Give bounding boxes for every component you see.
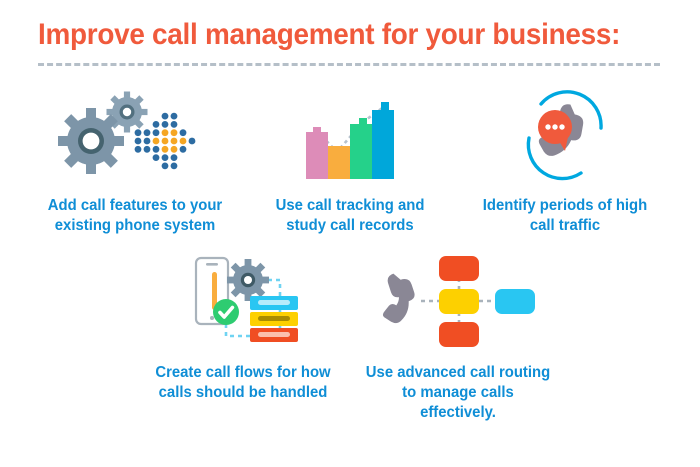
icon-container bbox=[55, 82, 215, 187]
feature-row-bottom: Create call flows for how calls should b… bbox=[0, 249, 700, 424]
page-title: Improve call management for your busines… bbox=[38, 18, 622, 52]
feature-item-call-routing: Use advanced call routing to manage call… bbox=[350, 249, 565, 424]
bar-chart-trend-icon bbox=[290, 84, 410, 184]
feature-caption: Use advanced call routing to manage call… bbox=[363, 363, 551, 424]
feature-item-high-call-traffic: Identify periods of high call traffic bbox=[458, 82, 673, 237]
header-divider bbox=[38, 63, 660, 66]
feature-caption: Identify periods of high call traffic bbox=[476, 196, 655, 237]
feature-item-add-call-features: Add call features to your existing phone… bbox=[28, 82, 243, 237]
feature-caption: Use call tracking and study call records bbox=[261, 196, 440, 237]
feature-item-call-tracking: Use call tracking and study call records bbox=[243, 82, 458, 237]
feature-caption: Create call flows for how calls should b… bbox=[153, 363, 332, 404]
icon-container bbox=[290, 82, 410, 187]
gears-dotted-arrow-icon bbox=[55, 84, 215, 184]
icon-container bbox=[168, 249, 318, 354]
feature-caption: Add call features to your existing phone… bbox=[46, 196, 225, 237]
icon-container bbox=[373, 249, 543, 354]
dotted-arrow-glyph bbox=[135, 113, 196, 170]
mobile-gear-flow-icon bbox=[168, 250, 318, 352]
call-routing-nodes-icon bbox=[373, 250, 543, 352]
feature-item-call-flows: Create call flows for how calls should b… bbox=[135, 249, 350, 404]
infographic-page: Improve call management for your busines… bbox=[0, 0, 700, 467]
feature-row-top: Add call features to your existing phone… bbox=[0, 82, 700, 237]
page-header: Improve call management for your busines… bbox=[0, 0, 700, 66]
phone-chat-bubble-icon bbox=[505, 82, 625, 187]
icon-container bbox=[505, 82, 625, 187]
